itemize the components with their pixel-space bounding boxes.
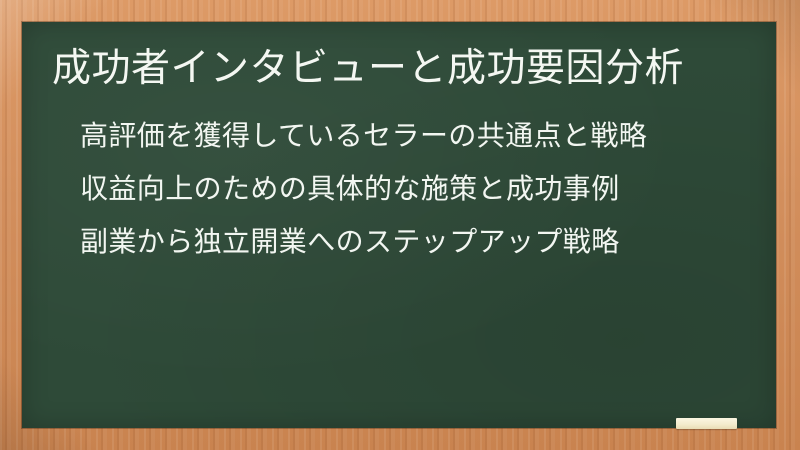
bullet-item: 副業から独立開業へのステップアップ戦略 <box>80 228 760 256</box>
bullet-item: 収益向上のための具体的な施策と成功事例 <box>80 175 760 203</box>
chalk-stick-icon <box>676 418 737 429</box>
bullet-item: 高評価を獲得しているセラーの共通点と戦略 <box>80 122 760 150</box>
slide-title: 成功者インタビューと成功要因分析 <box>52 46 752 92</box>
chalkboard-slide: 成功者インタビューと成功要因分析 高評価を獲得しているセラーの共通点と戦略 収益… <box>0 0 800 450</box>
bullet-list: 高評価を獲得しているセラーの共通点と戦略 収益向上のための具体的な施策と成功事例… <box>80 122 760 256</box>
chalkboard-surface: 成功者インタビューと成功要因分析 高評価を獲得しているセラーの共通点と戦略 収益… <box>22 22 776 428</box>
